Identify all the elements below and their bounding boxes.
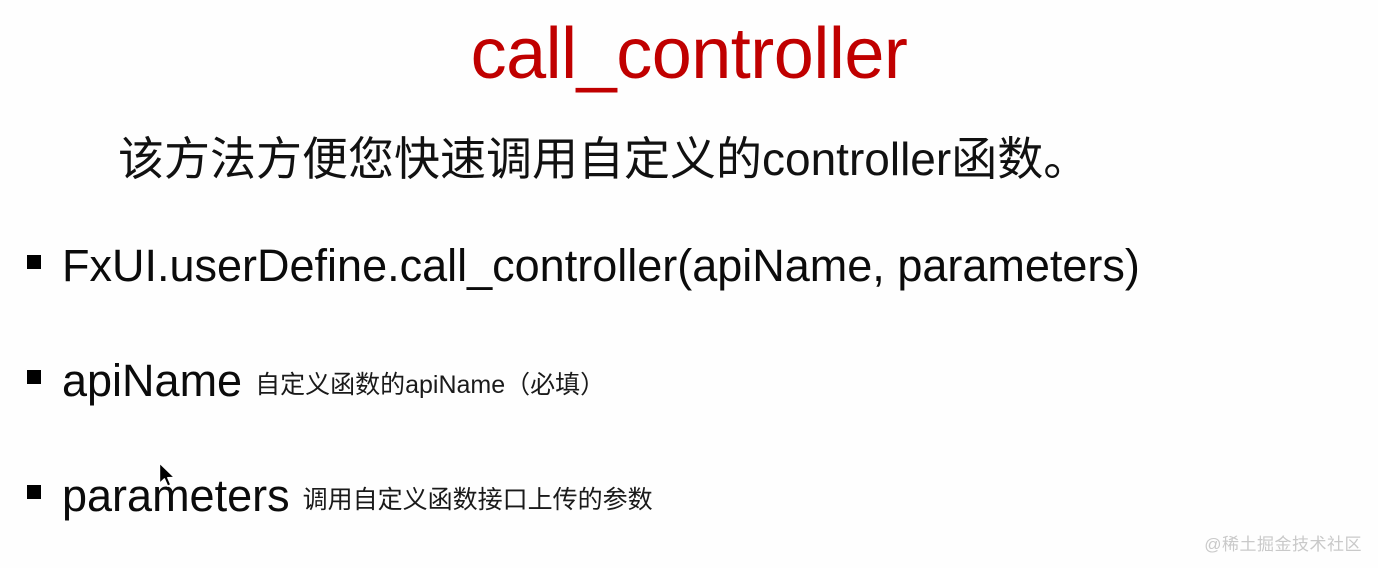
square-bullet-icon bbox=[27, 370, 41, 384]
page-title: call_controller bbox=[0, 12, 1378, 96]
list-item-main-text: apiName bbox=[62, 353, 242, 409]
list-item-note-text: 自定义函数的apiName（必填） bbox=[255, 370, 605, 400]
square-bullet-icon bbox=[27, 255, 41, 269]
list-item-main-text: parameters bbox=[62, 468, 290, 524]
slide-subtitle: 该方法方便您快速调用自定义的controller函数。 bbox=[118, 128, 1089, 190]
list-item: parameters 调用自定义函数接口上传的参数 bbox=[0, 468, 1378, 528]
list-item: apiName 自定义函数的apiName（必填） bbox=[0, 353, 1378, 413]
bullet-list: FxUI.userDefine.call_controller(apiName,… bbox=[0, 238, 1378, 528]
slide-canvas: call_controller 该方法方便您快速调用自定义的controller… bbox=[0, 0, 1378, 568]
watermark-label: @稀土掘金技术社区 bbox=[1204, 534, 1362, 556]
list-item-main-text: FxUI.userDefine.call_controller(apiName,… bbox=[62, 238, 1140, 294]
square-bullet-icon bbox=[27, 485, 41, 499]
list-item-note-text: 调用自定义函数接口上传的参数 bbox=[303, 485, 653, 515]
list-item: FxUI.userDefine.call_controller(apiName,… bbox=[0, 238, 1378, 298]
